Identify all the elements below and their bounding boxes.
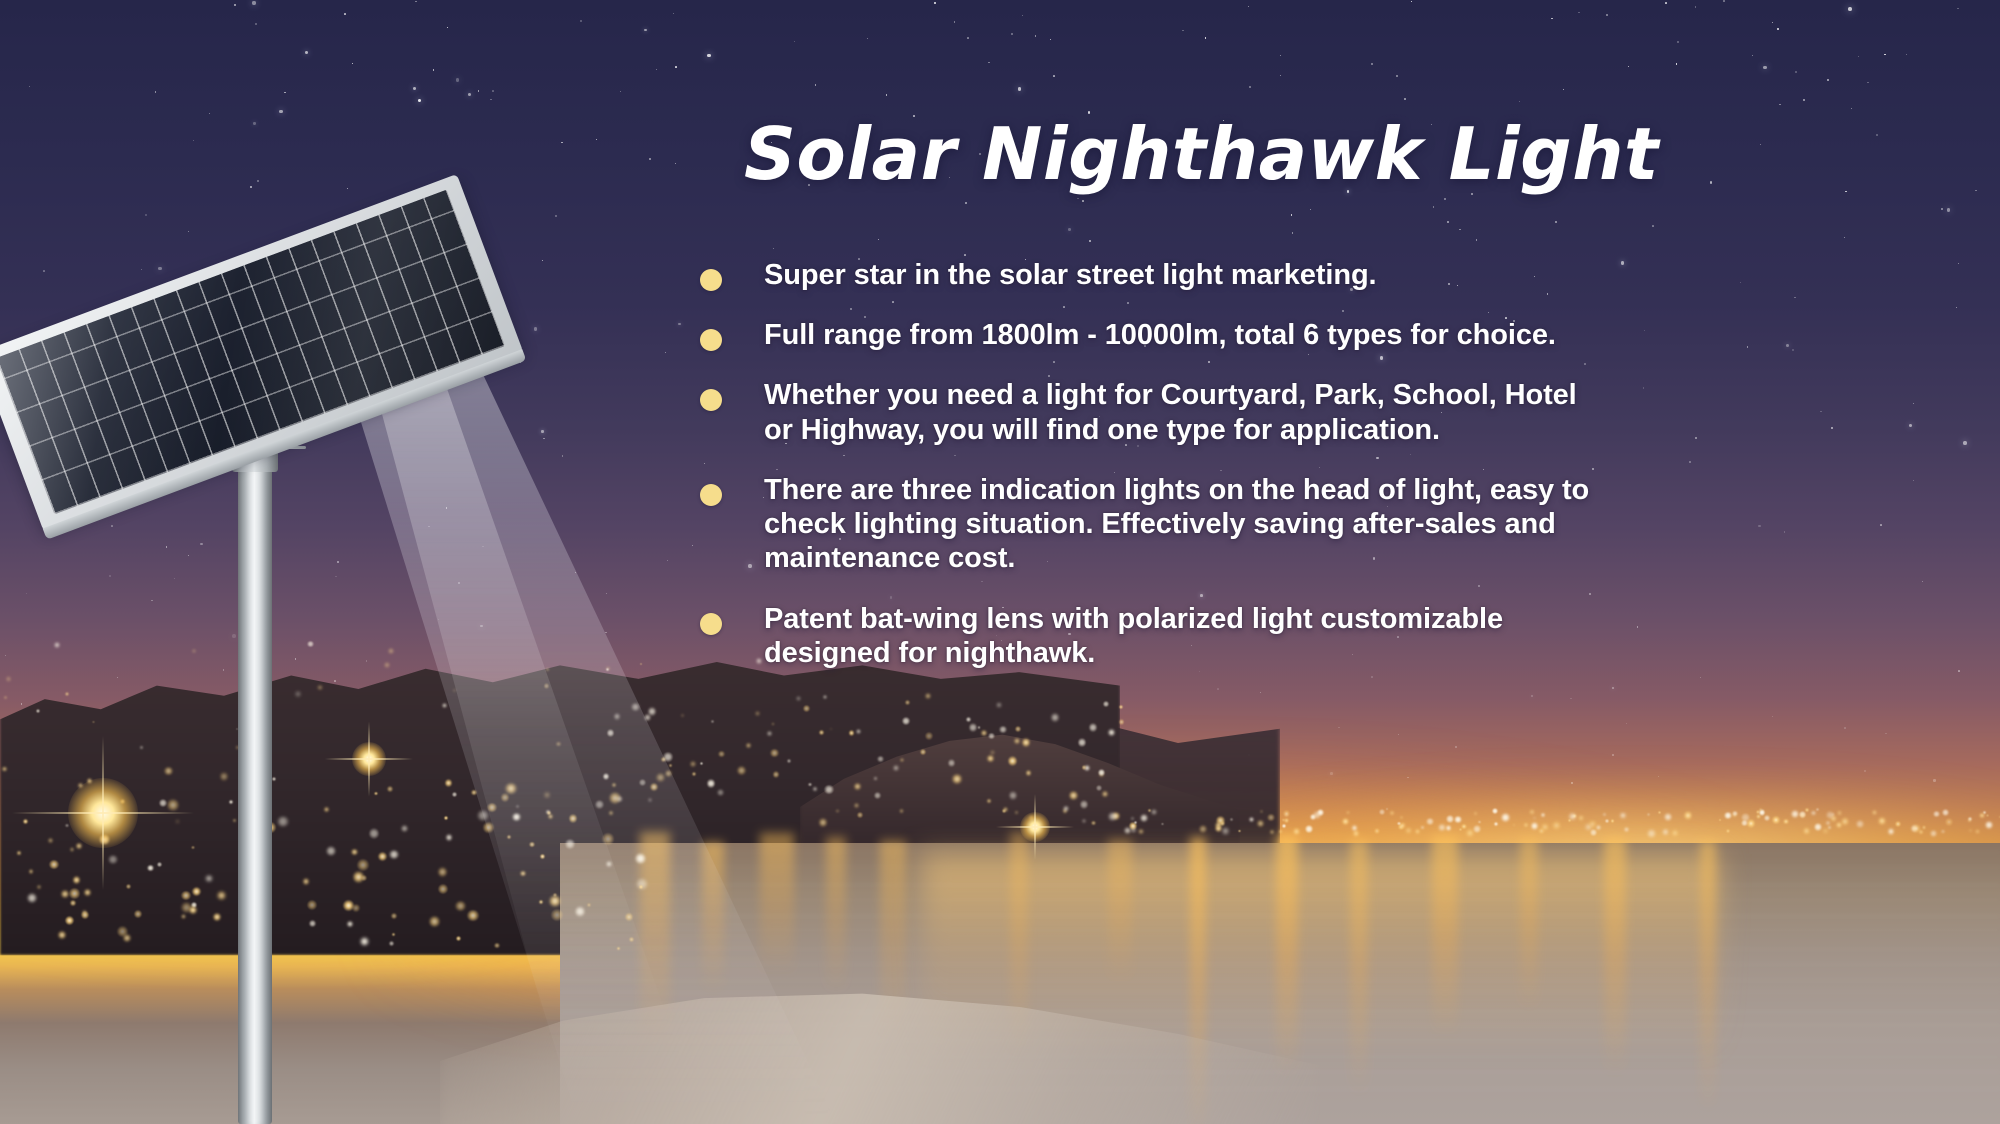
star xyxy=(644,29,646,31)
town-light xyxy=(108,855,117,864)
town-light xyxy=(303,878,310,885)
town-light xyxy=(1267,814,1275,822)
town-light xyxy=(1282,824,1286,828)
town-light xyxy=(1764,815,1770,821)
town-light xyxy=(389,850,398,859)
star xyxy=(1884,54,1885,55)
town-light xyxy=(1647,829,1655,837)
star xyxy=(605,632,607,634)
star xyxy=(1338,727,1340,729)
town-light xyxy=(1008,756,1017,765)
star xyxy=(1205,37,1206,38)
star xyxy=(26,593,27,594)
page-title: Solar Nighthawk Light xyxy=(744,112,1659,196)
star xyxy=(707,54,711,58)
town-light xyxy=(988,733,994,739)
town-light xyxy=(1390,811,1394,815)
town-light xyxy=(392,933,395,936)
star xyxy=(166,546,168,548)
star xyxy=(1906,54,1907,55)
star xyxy=(692,545,693,546)
star xyxy=(151,600,153,602)
star xyxy=(1710,181,1712,183)
star xyxy=(29,86,30,87)
town-light xyxy=(1800,813,1805,818)
town-light xyxy=(17,851,21,855)
town-light xyxy=(746,743,751,748)
town-light xyxy=(616,796,622,802)
town-light xyxy=(553,893,557,897)
town-light xyxy=(1096,785,1102,791)
town-light xyxy=(755,711,760,716)
town-light xyxy=(1161,823,1163,825)
town-light xyxy=(49,860,59,870)
star xyxy=(188,231,189,232)
star xyxy=(1182,30,1183,31)
town-light xyxy=(1091,821,1095,825)
town-light xyxy=(639,885,643,889)
star xyxy=(1404,98,1406,100)
town-light xyxy=(1841,817,1849,825)
town-light xyxy=(1552,821,1560,829)
town-light xyxy=(1805,808,1809,812)
town-light xyxy=(1103,701,1108,706)
town-light xyxy=(326,846,336,856)
town-light xyxy=(37,885,41,889)
town-light xyxy=(1089,723,1097,731)
star xyxy=(1068,228,1071,231)
town-light xyxy=(1215,822,1221,828)
star xyxy=(656,69,657,70)
star xyxy=(596,139,597,140)
town-light xyxy=(551,909,563,921)
town-light xyxy=(1756,814,1761,819)
town-light xyxy=(444,816,448,820)
star xyxy=(954,21,955,22)
town-light xyxy=(1138,829,1143,834)
light-reflection-on-water xyxy=(1276,835,1298,1076)
town-light xyxy=(317,685,322,690)
star xyxy=(433,69,434,70)
star xyxy=(1958,263,1959,264)
town-light xyxy=(347,921,353,927)
star xyxy=(109,575,111,577)
star xyxy=(1867,82,1869,84)
star xyxy=(1845,191,1847,193)
star xyxy=(1248,6,1250,8)
town-light xyxy=(1663,829,1668,834)
star xyxy=(878,239,880,241)
star xyxy=(43,270,45,272)
town-light xyxy=(1756,810,1760,814)
star xyxy=(675,66,677,68)
town-light xyxy=(1080,800,1089,809)
star xyxy=(1444,198,1446,200)
town-light xyxy=(1732,811,1737,816)
feature-bullet-item: There are three indication lights on the… xyxy=(700,473,1950,576)
light-reflection-on-water xyxy=(1604,838,1626,1076)
star xyxy=(1779,104,1780,105)
star xyxy=(815,84,816,85)
star xyxy=(252,1,255,4)
star xyxy=(1291,214,1293,216)
town-light xyxy=(1130,827,1136,833)
star xyxy=(542,260,543,261)
town-light xyxy=(391,913,397,919)
town-light xyxy=(1684,811,1692,819)
star xyxy=(1280,75,1281,76)
light-reflection-on-water xyxy=(1432,835,1458,1039)
town-light xyxy=(1922,825,1927,830)
star xyxy=(1695,6,1696,7)
bullet-dot-icon xyxy=(700,329,722,351)
star xyxy=(158,267,162,271)
star xyxy=(1089,240,1091,242)
town-light xyxy=(902,717,909,724)
town-light xyxy=(1078,738,1087,747)
town-light xyxy=(147,865,154,872)
star xyxy=(347,188,348,189)
town-light xyxy=(544,792,550,798)
town-light xyxy=(140,746,143,749)
star xyxy=(482,546,483,547)
town-light xyxy=(1541,823,1549,831)
town-light xyxy=(307,641,313,647)
town-light xyxy=(1249,817,1254,822)
star xyxy=(111,525,113,527)
star xyxy=(1411,1,1412,2)
star xyxy=(117,677,118,678)
town-light xyxy=(164,767,173,776)
star xyxy=(279,110,282,113)
town-light xyxy=(854,783,861,790)
town-light xyxy=(351,849,358,856)
town-light xyxy=(1346,811,1349,814)
star xyxy=(174,578,175,579)
star xyxy=(223,669,224,670)
star xyxy=(1858,56,1859,57)
star xyxy=(352,63,353,64)
star xyxy=(1292,232,1293,233)
feature-bullet-line: designed for nighthawk. xyxy=(764,636,1503,670)
star xyxy=(1612,754,1614,756)
town-light xyxy=(1415,829,1420,834)
town-light xyxy=(874,777,877,780)
town-light xyxy=(690,761,696,767)
town-light xyxy=(893,765,898,770)
star xyxy=(1777,28,1779,30)
town-light xyxy=(1588,820,1597,829)
town-light xyxy=(1230,818,1232,820)
star xyxy=(773,248,774,249)
town-light xyxy=(220,772,229,781)
star xyxy=(468,93,471,96)
star xyxy=(1310,209,1311,210)
town-light xyxy=(429,916,440,927)
town-light xyxy=(1541,813,1545,817)
town-light xyxy=(192,887,201,896)
star xyxy=(337,561,339,563)
pole-highlight xyxy=(246,430,264,1124)
town-light xyxy=(1747,819,1756,828)
town-light xyxy=(1878,817,1886,825)
town-light xyxy=(159,799,167,807)
star xyxy=(145,214,147,216)
town-light xyxy=(614,713,621,720)
feature-bullet-line: Patent bat-wing lens with polarized ligh… xyxy=(764,602,1503,636)
town-light xyxy=(1270,830,1274,834)
town-light xyxy=(453,689,455,691)
star xyxy=(193,140,194,141)
star xyxy=(1330,772,1333,775)
town-light xyxy=(1257,820,1264,827)
star xyxy=(1455,746,1457,748)
town-light xyxy=(1421,826,1423,828)
town-light xyxy=(631,703,639,711)
bullet-dot-icon xyxy=(700,484,722,506)
town-light xyxy=(1238,830,1240,832)
star xyxy=(1676,63,1677,64)
town-light xyxy=(656,773,665,782)
town-light xyxy=(1985,821,1993,829)
town-light xyxy=(1605,819,1609,823)
star xyxy=(1947,208,1951,212)
bright-light-flare xyxy=(1020,812,1050,842)
town-light xyxy=(540,854,545,859)
star xyxy=(447,27,448,28)
star xyxy=(284,92,286,94)
town-light xyxy=(438,867,447,876)
star xyxy=(1606,14,1608,16)
star xyxy=(253,122,255,124)
star xyxy=(480,625,483,628)
star xyxy=(446,507,447,508)
star xyxy=(1371,63,1372,64)
town-light xyxy=(229,800,233,804)
town-light xyxy=(1474,812,1477,815)
town-light xyxy=(609,811,613,815)
town-light xyxy=(718,751,724,757)
star xyxy=(305,51,308,54)
star xyxy=(1053,75,1055,77)
star xyxy=(1077,198,1079,200)
feature-bullet-item: Patent bat-wing lens with polarized ligh… xyxy=(700,602,1950,670)
town-light xyxy=(905,700,910,705)
town-light xyxy=(819,730,824,735)
star xyxy=(1665,2,1667,4)
feature-bullet-line: or Highway, you will find one type for a… xyxy=(764,413,1577,447)
town-light xyxy=(1397,822,1400,825)
star xyxy=(1578,12,1579,13)
bullet-dot-icon xyxy=(700,389,722,411)
feature-bullet-list: Super star in the solar street light mar… xyxy=(700,258,1950,696)
town-light xyxy=(69,888,80,899)
star xyxy=(1851,108,1852,109)
star xyxy=(1396,75,1398,77)
star xyxy=(1571,782,1572,783)
town-light xyxy=(1454,816,1462,824)
star xyxy=(200,543,202,545)
town-light xyxy=(948,759,956,767)
star xyxy=(606,593,607,594)
star xyxy=(965,202,967,204)
town-light xyxy=(191,846,195,850)
town-light xyxy=(925,732,933,740)
star xyxy=(1956,307,1957,308)
town-light xyxy=(1836,822,1842,828)
town-light xyxy=(477,810,489,822)
town-light xyxy=(1446,825,1451,830)
town-light xyxy=(445,779,453,787)
town-light xyxy=(456,936,461,941)
star xyxy=(794,41,795,42)
star xyxy=(1018,87,1022,91)
star xyxy=(141,269,142,270)
town-light xyxy=(1647,813,1650,816)
town-light xyxy=(1026,770,1032,776)
light-reflection-on-water xyxy=(760,833,794,976)
town-light xyxy=(352,904,360,912)
bright-light-flare xyxy=(352,742,386,776)
star xyxy=(1459,229,1460,230)
bright-light-flare xyxy=(68,778,138,848)
town-light xyxy=(607,729,614,736)
town-light xyxy=(1569,813,1576,820)
town-light xyxy=(595,800,604,809)
town-light xyxy=(1975,829,1980,834)
star xyxy=(1941,208,1943,210)
town-light xyxy=(167,799,178,810)
town-light xyxy=(1082,765,1086,769)
star xyxy=(1433,206,1435,208)
star xyxy=(257,180,259,182)
star xyxy=(155,91,156,92)
town-light xyxy=(92,721,94,723)
feature-bullet-line: There are three indication lights on the… xyxy=(764,473,1589,507)
town-light xyxy=(384,662,390,668)
town-light xyxy=(587,903,590,906)
light-reflection-on-water xyxy=(702,842,724,994)
star xyxy=(456,78,459,81)
star xyxy=(543,438,544,439)
town-light xyxy=(1131,817,1134,820)
town-light xyxy=(707,779,715,787)
town-light xyxy=(27,893,37,903)
town-light xyxy=(857,812,863,818)
star xyxy=(438,619,440,621)
star xyxy=(490,99,491,100)
light-reflection-on-water xyxy=(1350,840,1368,1096)
star xyxy=(1563,89,1564,90)
feature-bullet-line: Super star in the solar street light mar… xyxy=(764,258,1377,292)
town-light xyxy=(1531,822,1539,830)
star xyxy=(867,38,868,39)
town-light xyxy=(663,752,672,761)
town-light xyxy=(181,891,190,900)
town-light xyxy=(1741,820,1748,827)
star xyxy=(1772,22,1773,23)
star xyxy=(1963,441,1967,445)
star xyxy=(1082,200,1084,202)
town-light xyxy=(629,937,634,942)
star xyxy=(673,13,674,14)
star xyxy=(1795,71,1797,73)
feature-bullet-text: Full range from 1800lm - 10000lm, total … xyxy=(764,318,1556,352)
star xyxy=(964,254,966,256)
town-light xyxy=(6,676,12,682)
town-light xyxy=(1590,829,1596,835)
star xyxy=(555,215,556,216)
town-light xyxy=(952,774,961,783)
town-light xyxy=(1986,814,1989,817)
town-light xyxy=(1772,816,1780,824)
star xyxy=(675,163,676,164)
star xyxy=(413,87,416,90)
town-light xyxy=(1069,791,1078,800)
town-light xyxy=(900,758,904,762)
town-light xyxy=(1494,822,1498,826)
town-light xyxy=(981,730,987,736)
star xyxy=(335,576,336,577)
star xyxy=(561,142,563,144)
town-light xyxy=(61,890,69,898)
town-light xyxy=(23,819,28,824)
star xyxy=(1551,18,1552,19)
star xyxy=(1752,55,1753,56)
star xyxy=(232,634,236,638)
town-light xyxy=(70,900,76,906)
town-light xyxy=(295,691,301,697)
bullet-dot-icon xyxy=(700,613,722,635)
town-light xyxy=(1260,810,1263,813)
star xyxy=(334,680,336,682)
town-light xyxy=(442,703,447,708)
star xyxy=(1555,221,1557,223)
star xyxy=(1447,221,1449,223)
star xyxy=(580,20,582,22)
town-light xyxy=(1478,821,1481,824)
star xyxy=(1958,670,1960,672)
town-light xyxy=(467,910,479,922)
town-light xyxy=(575,906,586,917)
feature-bullet-text: Super star in the solar street light mar… xyxy=(764,258,1377,292)
town-light xyxy=(602,833,614,845)
star xyxy=(1957,8,1959,10)
town-light xyxy=(1624,827,1629,832)
star xyxy=(1864,770,1866,772)
town-light xyxy=(900,809,903,812)
town-light xyxy=(770,749,778,757)
town-light xyxy=(669,764,672,767)
town-light xyxy=(650,783,658,791)
town-light xyxy=(455,901,465,911)
star xyxy=(1658,776,1659,777)
star xyxy=(492,90,494,92)
town-light xyxy=(1856,820,1863,827)
feature-bullet-item: Full range from 1800lm - 10000lm, total … xyxy=(700,318,1950,352)
town-light xyxy=(277,816,288,827)
town-light xyxy=(1438,824,1446,832)
star xyxy=(1933,779,1935,781)
feature-bullet-line: maintenance cost. xyxy=(764,541,1589,575)
town-light xyxy=(1461,824,1466,829)
town-light xyxy=(990,750,995,755)
town-light xyxy=(1015,726,1021,732)
star xyxy=(967,37,969,39)
feature-bullet-line: Full range from 1800lm - 10000lm, total … xyxy=(764,318,1556,352)
feature-bullet-line: Whether you need a light for Courtyard, … xyxy=(764,378,1577,412)
town-light xyxy=(648,707,657,716)
